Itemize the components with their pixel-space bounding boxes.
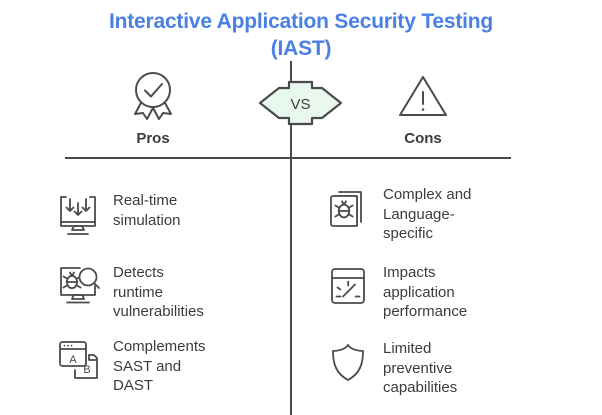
page-title-line-2: (IAST) xyxy=(0,35,602,62)
list-item-line: performance xyxy=(383,302,467,322)
list-item-text: Detects runtime vulnerabilities xyxy=(113,261,204,322)
column-header-cons-label: Cons xyxy=(348,130,498,147)
vs-label: VS xyxy=(290,96,310,113)
list-item-line: runtime xyxy=(113,283,204,303)
list-item-line: Limited xyxy=(383,339,457,359)
shield-icon xyxy=(322,337,374,389)
warning-triangle-icon xyxy=(348,68,498,124)
page-title-line-1: Interactive Application Security Testing xyxy=(109,10,493,33)
page-title: Interactive Application Security Testing… xyxy=(0,8,602,62)
list-item-line: Impacts xyxy=(383,263,467,283)
column-header-pros-label: Pros xyxy=(78,130,228,147)
list-item-line: Detects xyxy=(113,263,204,283)
list-item-line: preventive xyxy=(383,359,457,379)
documents-bug-icon xyxy=(322,183,374,235)
list-item: Complex and Language- specific xyxy=(322,183,522,244)
list-item-line: Complex and xyxy=(383,185,471,205)
windows-a-b-icon: A B xyxy=(52,335,104,387)
horizontal-divider xyxy=(65,157,511,159)
vs-badge: VS xyxy=(258,80,343,126)
list-item-line: specific xyxy=(383,224,471,244)
list-item-text: Real-time simulation xyxy=(113,189,181,230)
list-item-line: vulnerabilities xyxy=(113,302,204,322)
list-item: Detects runtime vulnerabilities xyxy=(52,261,252,322)
list-item-line: Complements xyxy=(113,337,206,357)
svg-text:B: B xyxy=(83,364,90,376)
list-item-line: Language- xyxy=(383,205,471,225)
vs-double-arrow-icon: VS xyxy=(258,80,343,126)
list-item: Limited preventive capabilities xyxy=(322,337,522,398)
list-item-text: Impacts application performance xyxy=(383,261,467,322)
list-item-text: Limited preventive capabilities xyxy=(383,337,457,398)
list-item: Real-time simulation xyxy=(52,189,252,241)
list-item-line: simulation xyxy=(113,211,181,231)
monitor-bug-magnifier-icon xyxy=(52,261,104,313)
list-item-text: Complex and Language- specific xyxy=(383,183,471,244)
iast-pros-cons-infographic: Interactive Application Security Testing… xyxy=(0,0,602,415)
list-item-line: capabilities xyxy=(383,378,457,398)
list-item: Impacts application performance xyxy=(322,261,522,322)
award-badge-check-icon xyxy=(78,68,228,124)
monitor-download-arrows-icon xyxy=(52,189,104,241)
list-item-line: DAST xyxy=(113,376,206,396)
list-item-text: Complements SAST and DAST xyxy=(113,335,206,396)
list-item-line: application xyxy=(383,283,467,303)
list-item-line: SAST and xyxy=(113,357,206,377)
column-header-pros: Pros xyxy=(78,68,228,147)
list-item: A B Complements SAST and DAST xyxy=(52,335,252,396)
svg-text:A: A xyxy=(69,354,77,366)
column-header-cons: Cons xyxy=(348,68,498,147)
list-item-line: Real-time xyxy=(113,191,181,211)
gauge-performance-icon xyxy=(322,261,374,313)
